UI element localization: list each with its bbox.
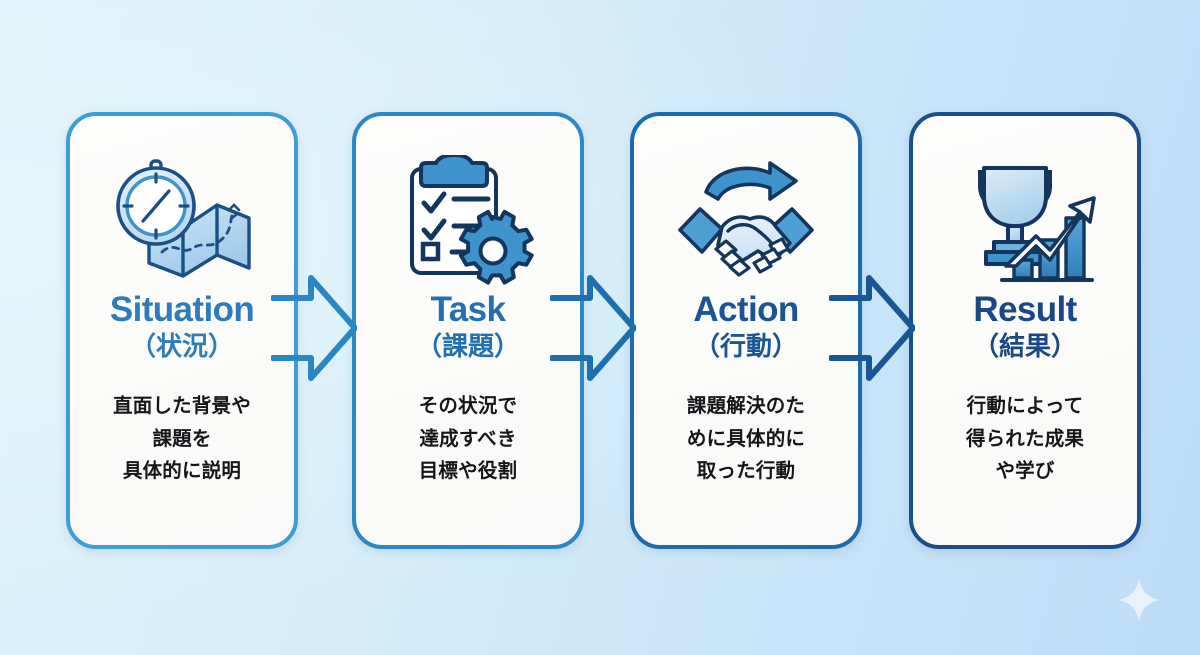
step-description: 行動によって得られた成果や学び	[966, 390, 1084, 488]
step-card-result[interactable]: Result （結果） 行動によって得られた成果や学び	[909, 112, 1141, 549]
step-title-jp: （課題）	[416, 329, 520, 364]
step-title-jp: （行動）	[694, 329, 798, 364]
step-title-jp: （状況）	[130, 329, 234, 364]
step-description: その状況で達成すべき目標や役割	[419, 390, 518, 488]
step-card-row: Situation （状況） 直面した背景や課題を具体的に説明	[0, 0, 1200, 655]
step-description: 直面した背景や課題を具体的に説明	[113, 390, 251, 488]
step-card-situation[interactable]: Situation （状況） 直面した背景や課題を具体的に説明	[66, 112, 298, 549]
step-card-action[interactable]: Action （行動） 課題解決のために具体的に取った行動	[630, 112, 862, 549]
step-title-en: Action	[693, 292, 798, 329]
connector-arrow-action-to-result	[829, 272, 915, 384]
clipboard-checklist-gear-icon	[402, 154, 534, 286]
step-description: 課題解決のために具体的に取った行動	[687, 390, 805, 488]
step-title-en: Result	[973, 292, 1076, 329]
trophy-growth-chart-icon	[954, 154, 1096, 286]
connector-arrow-task-to-action	[550, 272, 636, 384]
step-title-jp: （結果）	[973, 329, 1077, 364]
step-title-en: Task	[431, 292, 506, 329]
handshake-arrow-icon	[670, 154, 822, 286]
connector-arrow-situation-to-task	[271, 272, 357, 384]
star-method-diagram: Situation （状況） 直面した背景や課題を具体的に説明	[0, 0, 1200, 655]
step-title-en: Situation	[110, 292, 254, 329]
compass-map-icon	[107, 154, 257, 286]
